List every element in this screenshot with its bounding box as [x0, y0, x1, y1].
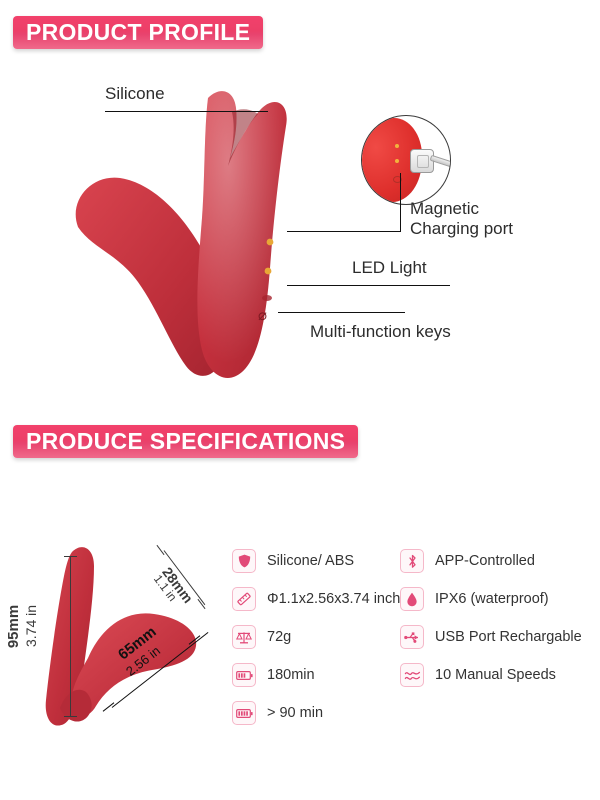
leader-line-led-light: [287, 285, 450, 286]
leader-line-silicone: [105, 111, 268, 112]
leader-line-multi-function-keys: [278, 312, 405, 313]
spec-row-speeds: 10 Manual Speeds: [400, 657, 582, 693]
water-drop-icon: [400, 587, 424, 611]
product-image-top: ⌀: [62, 82, 322, 382]
dimension-label-length-group: 65mm 2.56 in: [115, 640, 225, 700]
spec-row-runtime: 180min: [232, 657, 400, 693]
battery-full-icon: [232, 701, 256, 725]
spec-value-runtime: 180min: [267, 667, 315, 683]
magnifier-led-dot-2: [395, 159, 399, 163]
spec-list-right: APP-Controlled IPX6 (waterproof): [400, 543, 582, 695]
scale-icon: [232, 625, 256, 649]
callout-label-multi-function-keys: Multi-function keys: [310, 322, 451, 342]
usb-icon: [400, 625, 424, 649]
callout-label-silicone: Silicone: [105, 84, 165, 104]
spec-list-left: Silicone/ ABS Φ1.1x2.56x3.74 inch: [232, 543, 400, 733]
spec-value-app-control: APP-Controlled: [435, 553, 535, 569]
callout-label-magnetic-line2: Charging port: [410, 219, 513, 239]
magnifier-charging-port: [361, 115, 451, 205]
dimension-cap-height-bottom: [64, 716, 77, 717]
section-banner-produce-specifications: PRODUCE SPECIFICATIONS: [13, 425, 358, 458]
led-dot-2: [265, 268, 272, 275]
dimension-label-depth-group: 28mm 1.1 in: [166, 548, 236, 610]
leader-line-magnetic-horizontal: [287, 231, 401, 232]
led-dot-1: [267, 239, 274, 246]
spec-row-size: Φ1.1x2.56x3.74 inch: [232, 581, 400, 617]
ruler-icon: [232, 587, 256, 611]
section-banner-product-profile: PRODUCT PROFILE: [13, 16, 263, 49]
dimension-cap-height-top: [64, 556, 77, 557]
spec-value-charge-time: > 90 min: [267, 705, 323, 721]
spec-value-speeds: 10 Manual Speeds: [435, 667, 556, 683]
callout-label-led-light: LED Light: [352, 258, 427, 278]
spec-row-charge-time: > 90 min: [232, 695, 400, 731]
spec-value-weight: 72g: [267, 629, 291, 645]
shield-icon: [232, 549, 256, 573]
infographic-page: PRODUCT PROFILE: [0, 0, 600, 800]
leader-line-magnetic-vertical: [400, 173, 401, 231]
spec-row-waterproof: IPX6 (waterproof): [400, 581, 582, 617]
dimension-label-height-mm: 95mm: [5, 605, 22, 648]
waves-icon: [400, 663, 424, 687]
dimension-line-height: [70, 556, 71, 716]
spec-row-app-control: APP-Controlled: [400, 543, 582, 579]
dimension-label-height-in: 3.74 in: [23, 605, 39, 647]
spec-row-material: Silicone/ ABS: [232, 543, 400, 579]
spec-row-usb: USB Port Rechargable: [400, 619, 582, 655]
callout-label-magnetic-line1: Magnetic: [410, 199, 513, 219]
spec-value-material: Silicone/ ABS: [267, 553, 354, 569]
magnifier-led-dot-1: [395, 144, 399, 148]
battery-icon: [232, 663, 256, 687]
bluetooth-icon: [400, 549, 424, 573]
spec-value-size: Φ1.1x2.56x3.74 inch: [267, 591, 400, 607]
spec-value-waterproof: IPX6 (waterproof): [435, 591, 549, 607]
spec-value-usb: USB Port Rechargable: [435, 629, 582, 645]
spec-row-weight: 72g: [232, 619, 400, 655]
svg-text:⌀: ⌀: [258, 308, 267, 324]
callout-label-magnetic-charging-port: Magnetic Charging port: [410, 199, 513, 240]
